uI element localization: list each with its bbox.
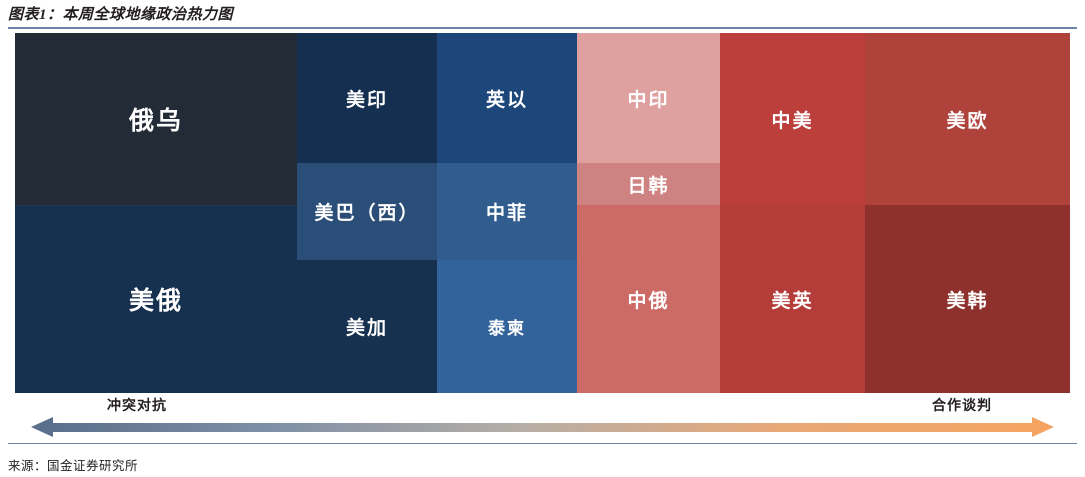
source-note: 来源：国金证券研究所 [8, 455, 138, 474]
axis-arrow [15, 417, 1070, 439]
axis-label-cooperation: 合作谈判 [932, 395, 992, 415]
heatmap-cell-zhong-e[interactable]: 中俄 [577, 205, 720, 393]
heatmap-cell-e-wu[interactable]: 俄乌 [15, 33, 297, 205]
heatmap-cell-mei-e[interactable]: 美俄 [15, 205, 297, 393]
heatmap-cell-zhong-fei[interactable]: 中菲 [437, 163, 577, 260]
page-title: 图表1：本周全球地缘政治热力图 [8, 3, 233, 24]
axis-label-conflict: 冲突对抗 [107, 395, 167, 415]
heatmap-cell-mei-jia[interactable]: 美加 [297, 260, 437, 393]
footer-divider [8, 443, 1077, 444]
heatmap-cell-mei-ba-xi[interactable]: 美巴（西） [297, 163, 437, 260]
heatmap-cell-zhong-yin[interactable]: 中印 [577, 33, 720, 163]
arrow-left-icon [31, 417, 53, 437]
heatmap-cell-ri-han[interactable]: 日韩 [577, 163, 720, 205]
heatmap-cell-mei-yin[interactable]: 美印 [297, 33, 437, 163]
heatmap-cell-zhong-mei[interactable]: 中美 [720, 33, 865, 205]
title-divider [8, 27, 1077, 29]
heatmap-cell-mei-ou[interactable]: 美欧 [865, 33, 1070, 205]
arrow-right-icon [1032, 417, 1054, 437]
heatmap-cell-ying-yi[interactable]: 英以 [437, 33, 577, 163]
heatmap-cell-mei-han[interactable]: 美韩 [865, 205, 1070, 393]
cell-hairline-separator [15, 205, 297, 206]
geopolitics-heatmap: 俄乌 美俄 美印 美巴（西） 美加 英以 中菲 泰柬 中印 日韩 中俄 中美 美… [15, 33, 1070, 393]
chart-page: 图表1：本周全球地缘政治热力图 俄乌 美俄 美印 美巴（西） 美加 英以 中菲 … [0, 0, 1085, 477]
axis-arrow-shaft [49, 423, 1036, 432]
heatmap-cell-tai-jian[interactable]: 泰柬 [437, 260, 577, 393]
intensity-axis: 冲突对抗 合作谈判 [15, 393, 1070, 439]
heatmap-cell-mei-ying[interactable]: 美英 [720, 205, 865, 393]
